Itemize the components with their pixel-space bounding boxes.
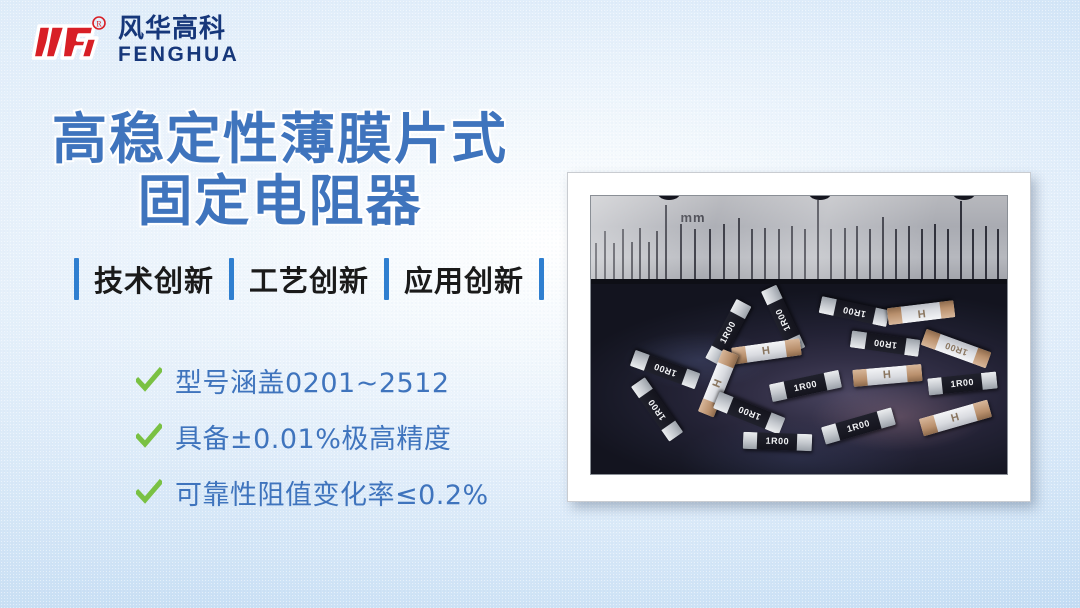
product-photo: mm 1R001R001R00HH1R001R001R00H1R00H1R001… [590,195,1008,475]
chip-terminal-left [852,369,868,387]
svg-text:R: R [96,19,102,28]
chip-terminal-right [797,434,812,452]
title-line-2: 固定电阻器 [0,170,560,232]
chip-terminal-right [906,364,922,382]
feature-tag-technology: 技术创新 [79,258,229,300]
page-title: 高稳定性薄膜片式 固定电阻器 [0,108,560,232]
chip-tray: 1R001R001R00HH1R001R001R00H1R00H1R001R00… [591,284,1007,474]
chip-terminal-right [819,296,837,316]
chip-terminal-left [743,432,758,450]
millimeter-ruler: mm [591,196,1007,284]
check-mark-icon [136,367,162,393]
chip-terminal-right [850,330,867,349]
product-photo-frame: mm 1R001R001R00HH1R001R001R00H1R00H1R001… [567,172,1031,502]
fenghua-fh-monogram-icon: R [32,14,108,66]
brand-logo: R 风华高科 FENGHUA [32,14,239,66]
title-line-1: 高稳定性薄膜片式 [0,108,560,170]
feature-tag-process: 工艺创新 [234,258,384,300]
chip-marking: 1R00 [873,337,898,349]
feature-tag-row: 技术创新 工艺创新 应用创新 [74,258,544,300]
check-mark-icon [136,423,162,449]
chip-marking: H [883,370,892,382]
feature-tag-application: 应用创新 [389,258,539,300]
chip-terminal-right [981,371,997,390]
chip-terminal-left [927,377,943,396]
brand-name-en: FENGHUA [118,44,239,65]
chip-marking: 1R00 [765,437,789,447]
promo-poster: R 风华高科 FENGHUA 高稳定性薄膜片式 固定电阻器 技术创新 工艺创新 … [0,0,1080,608]
chip-resistor: 1R00 [743,432,812,452]
chip-terminal-left [940,300,956,319]
list-item: 具备±0.01%极高精度 [136,408,489,464]
list-item: 可靠性阻值变化率≤0.2% [136,464,489,520]
check-mark-icon [136,479,162,505]
brand-name-cn: 风华高科 [118,16,239,42]
brand-wordmark: 风华高科 FENGHUA [118,16,239,65]
list-item: 型号涵盖0201~2512 [136,352,489,408]
feature-bullet-list: 型号涵盖0201~2512 具备±0.01%极高精度 可靠性阻值变化率≤0.2% [136,352,489,520]
bullet-text-models: 型号涵盖0201~2512 [175,361,450,400]
ruler-sheen [591,196,1007,284]
chip-terminal-right [888,306,904,325]
chip-terminal-left [904,338,921,357]
chip-terminal-right [785,338,802,357]
tag-divider [539,258,544,300]
bullet-text-reliability: 可靠性阻值变化率≤0.2% [175,473,489,512]
bullet-text-precision: 具备±0.01%极高精度 [175,417,451,456]
